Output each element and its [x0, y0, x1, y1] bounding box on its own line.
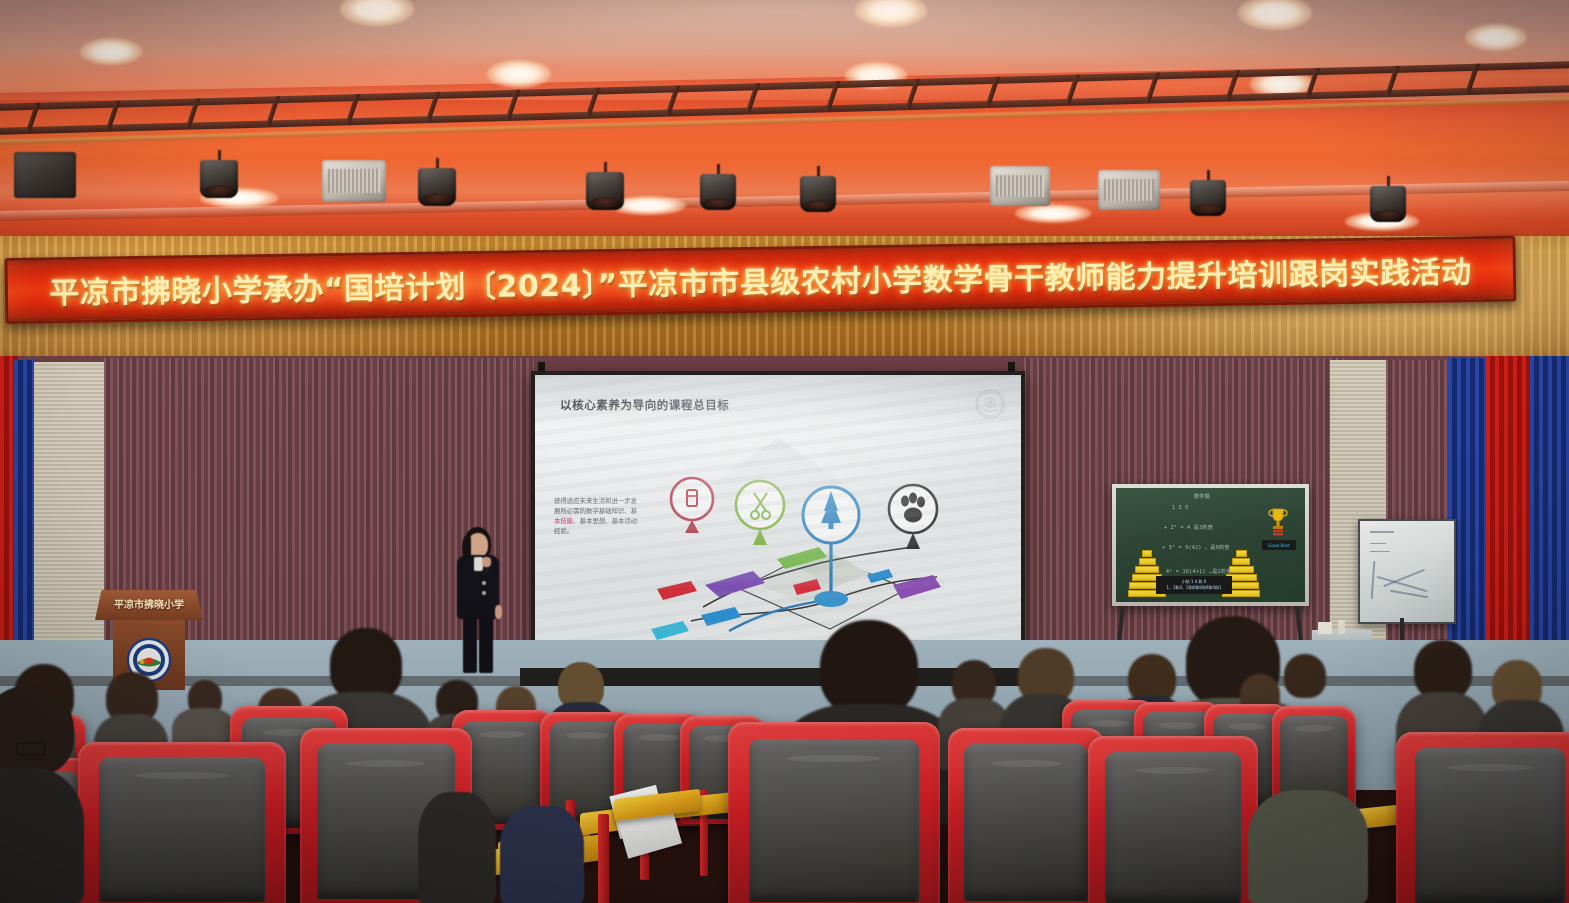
equipment-bottle [1338, 620, 1345, 634]
auditorium-seat-front[interactable] [728, 722, 940, 903]
slide-body-text: 获得适应未来生活和进一步发 展所必需的数学基础知识、基 本技能、基本思想、基本活… [554, 497, 651, 537]
slide-body-line3: 、基本思想、基本活动 [573, 517, 637, 525]
presenter-hand [482, 557, 491, 567]
speaker-podium: 平凉市拂晓小学 [95, 590, 203, 690]
slide-body-line1: 获得适应未来生活和进一步发 [554, 497, 637, 505]
blackboard-badge: Good Best [1262, 540, 1296, 550]
downlight [1465, 24, 1527, 51]
slide-body-highlight: 本技能 [554, 517, 573, 525]
pin-scissors [736, 481, 784, 545]
stage-light-flat [14, 152, 76, 198]
downlight [487, 60, 551, 88]
whiteboard-mark [1370, 551, 1390, 552]
presenter-legs [463, 617, 477, 673]
whiteboard-mark [1370, 531, 1394, 533]
audience-body [500, 806, 584, 903]
stage-spotlight [700, 164, 736, 210]
trophy-icon [1268, 506, 1288, 540]
presenter-button [482, 591, 486, 595]
downlight [1015, 204, 1091, 223]
auditorium-seat-front[interactable] [948, 728, 1104, 903]
chalk-line: 1 3 5 [1172, 505, 1189, 511]
armrest-post-front [598, 814, 609, 903]
curtain-blue-left [14, 360, 36, 682]
svg-text:中: 中 [987, 400, 992, 407]
slide-body-line4: 经验。 [554, 527, 573, 535]
audience-head [1284, 654, 1326, 698]
podium-label: 平凉市拂晓小学 [95, 596, 203, 611]
whiteboard-on-stand[interactable] [1358, 519, 1456, 624]
downlight [80, 38, 142, 65]
stage-spotlight [800, 166, 836, 212]
slide-map-graphic [645, 471, 955, 641]
pin-tree [803, 487, 859, 543]
audience-head [820, 620, 918, 716]
chalk-line: + 2² = 4 是3的倍 [1164, 524, 1213, 531]
whiteboard-mark [1390, 590, 1428, 598]
projection-screen[interactable]: 以核心素养为导向的课程总目标 中 获得适应未来生活和进一步发 展所必需的数学基础… [531, 371, 1025, 665]
slide-title: 以核心素养为导向的课程总目标 [560, 397, 729, 413]
equipment-box [1318, 622, 1332, 634]
stage-spotlight [1190, 170, 1226, 216]
auditorium-seat-front[interactable] [1088, 736, 1258, 903]
presenter-legs [479, 617, 493, 673]
school-seal-logo: 中 [975, 389, 1005, 419]
stage-spotlight [200, 150, 238, 198]
stage-light-fresnel [1098, 170, 1160, 210]
audience-head [1414, 640, 1472, 700]
auditorium-scene: 平凉市拂晓小学承办“国培计划〔2024〕”平凉市市县级农村小学数学骨干教师能力提… [0, 0, 1569, 903]
pin-paw [889, 485, 937, 549]
blackboard-note-card: 小结 1 4 和 01、2和3、5和6和8和9和0和1 [1156, 576, 1232, 594]
presenter-with-microphone [449, 527, 513, 675]
pin-cup [671, 478, 713, 533]
presenter-button [482, 581, 486, 585]
slide-body-line2: 展所必需的数学基础知识、基 [554, 507, 637, 515]
stage-light-fresnel [990, 166, 1050, 206]
whiteboard-mark [1371, 561, 1376, 599]
blackboard: 数学题 1 3 5 + 2² = 4 是3的倍 + 3² = 9(42) 。是9… [1112, 484, 1309, 606]
audience-body [418, 792, 496, 903]
audience-body [1248, 790, 1368, 903]
chalk-line: 数学题 [1194, 493, 1210, 500]
eyeglasses-icon [16, 742, 46, 756]
stage-spotlight [586, 162, 624, 210]
auditorium-seat-front[interactable] [1396, 732, 1569, 903]
stage-light-fresnel [322, 160, 386, 202]
auditorium-seat-front[interactable] [78, 742, 286, 903]
audience-body [0, 768, 84, 903]
chalk-line: + 3² = 9(42) 。是9的倍 [1162, 544, 1230, 551]
whiteboard-mark [1370, 543, 1386, 544]
stage-spotlight [1370, 176, 1406, 222]
stage-spotlight [418, 158, 456, 206]
presenter-head [468, 533, 488, 557]
audience-head [330, 628, 402, 702]
stage-shadow-band [0, 676, 1569, 686]
presenter-hand-right [495, 605, 502, 619]
